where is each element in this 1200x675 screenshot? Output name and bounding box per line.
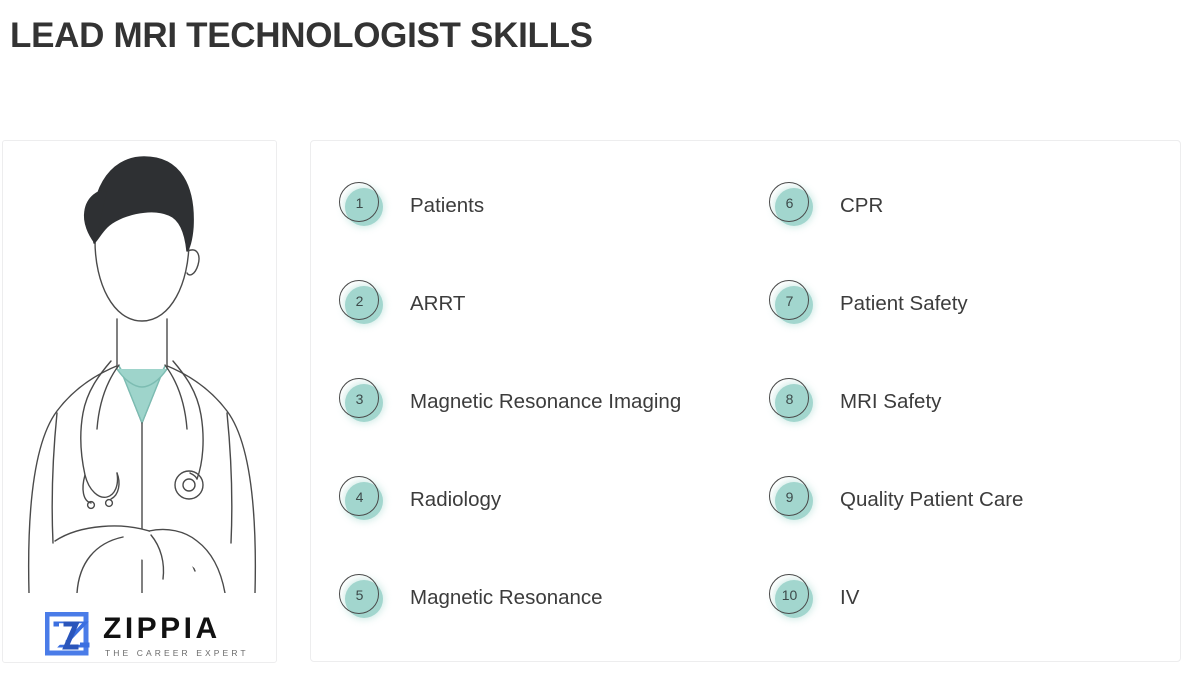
- skills-panel: 1 Patients 2 ARRT 3 Magnetic Resonanc: [310, 140, 1181, 662]
- mri-technologist-illustration: [2, 140, 277, 593]
- skill-item[interactable]: 4 Radiology: [339, 479, 769, 577]
- skill-item[interactable]: 6 CPR: [769, 185, 1169, 283]
- skill-number: 4: [339, 476, 380, 517]
- skill-label: Radiology: [410, 487, 501, 513]
- skill-number: 8: [769, 378, 810, 419]
- skill-number-badge: 8: [769, 378, 815, 424]
- skill-label: Patients: [410, 193, 484, 219]
- skill-item[interactable]: 8 MRI Safety: [769, 381, 1169, 479]
- skill-number-badge: 1: [339, 182, 385, 228]
- skill-number: 9: [769, 476, 810, 517]
- skill-item[interactable]: 1 Patients: [339, 185, 769, 283]
- skill-item[interactable]: 9 Quality Patient Care: [769, 479, 1169, 577]
- skill-number: 6: [769, 182, 810, 223]
- skill-number-badge: 6: [769, 182, 815, 228]
- skills-infographic: Lead MRI Technologist Skills: [0, 0, 1200, 675]
- zippia-tagline: THE CAREER EXPERT: [105, 649, 249, 658]
- skill-number-badge: 5: [339, 574, 385, 620]
- skill-item[interactable]: 2 ARRT: [339, 283, 769, 381]
- skill-number: 3: [339, 378, 380, 419]
- skill-label: Magnetic Resonance: [410, 585, 603, 611]
- zippia-logo[interactable]: ZIPPIA THE CAREER EXPERT: [45, 612, 249, 659]
- skill-number: 5: [339, 574, 380, 615]
- skill-label: Patient Safety: [840, 291, 968, 317]
- skill-item[interactable]: 7 Patient Safety: [769, 283, 1169, 381]
- skill-item[interactable]: 10 IV: [769, 577, 1169, 675]
- skill-number-badge: 10: [769, 574, 815, 620]
- skill-item[interactable]: 5 Magnetic Resonance: [339, 577, 769, 675]
- skill-number-badge: 3: [339, 378, 385, 424]
- skill-number: 7: [769, 280, 810, 321]
- skill-number: 1: [339, 182, 380, 223]
- skill-number: 2: [339, 280, 380, 321]
- skill-label: IV: [840, 585, 859, 611]
- zippia-logo-mark: [45, 612, 92, 659]
- skill-number-badge: 2: [339, 280, 385, 326]
- zippia-wordmark-group: ZIPPIA THE CAREER EXPERT: [103, 614, 249, 658]
- skill-number: 10: [769, 574, 810, 615]
- zippia-wordmark: ZIPPIA: [103, 614, 249, 644]
- skill-number-badge: 9: [769, 476, 815, 522]
- skill-label: Quality Patient Care: [840, 487, 1023, 513]
- skills-column-left: 1 Patients 2 ARRT 3 Magnetic Resonanc: [339, 185, 769, 675]
- skill-number-badge: 7: [769, 280, 815, 326]
- skill-label: Magnetic Resonance Imaging: [410, 389, 681, 415]
- page-title: Lead MRI Technologist Skills: [10, 16, 593, 56]
- skill-label: MRI Safety: [840, 389, 941, 415]
- skill-number-badge: 4: [339, 476, 385, 522]
- skills-column-right: 6 CPR 7 Patient Safety 8 MRI Safety: [769, 185, 1169, 675]
- skill-label: CPR: [840, 193, 883, 219]
- illustration-panel: [2, 140, 277, 663]
- skill-label: ARRT: [410, 291, 465, 317]
- skill-item[interactable]: 3 Magnetic Resonance Imaging: [339, 381, 769, 479]
